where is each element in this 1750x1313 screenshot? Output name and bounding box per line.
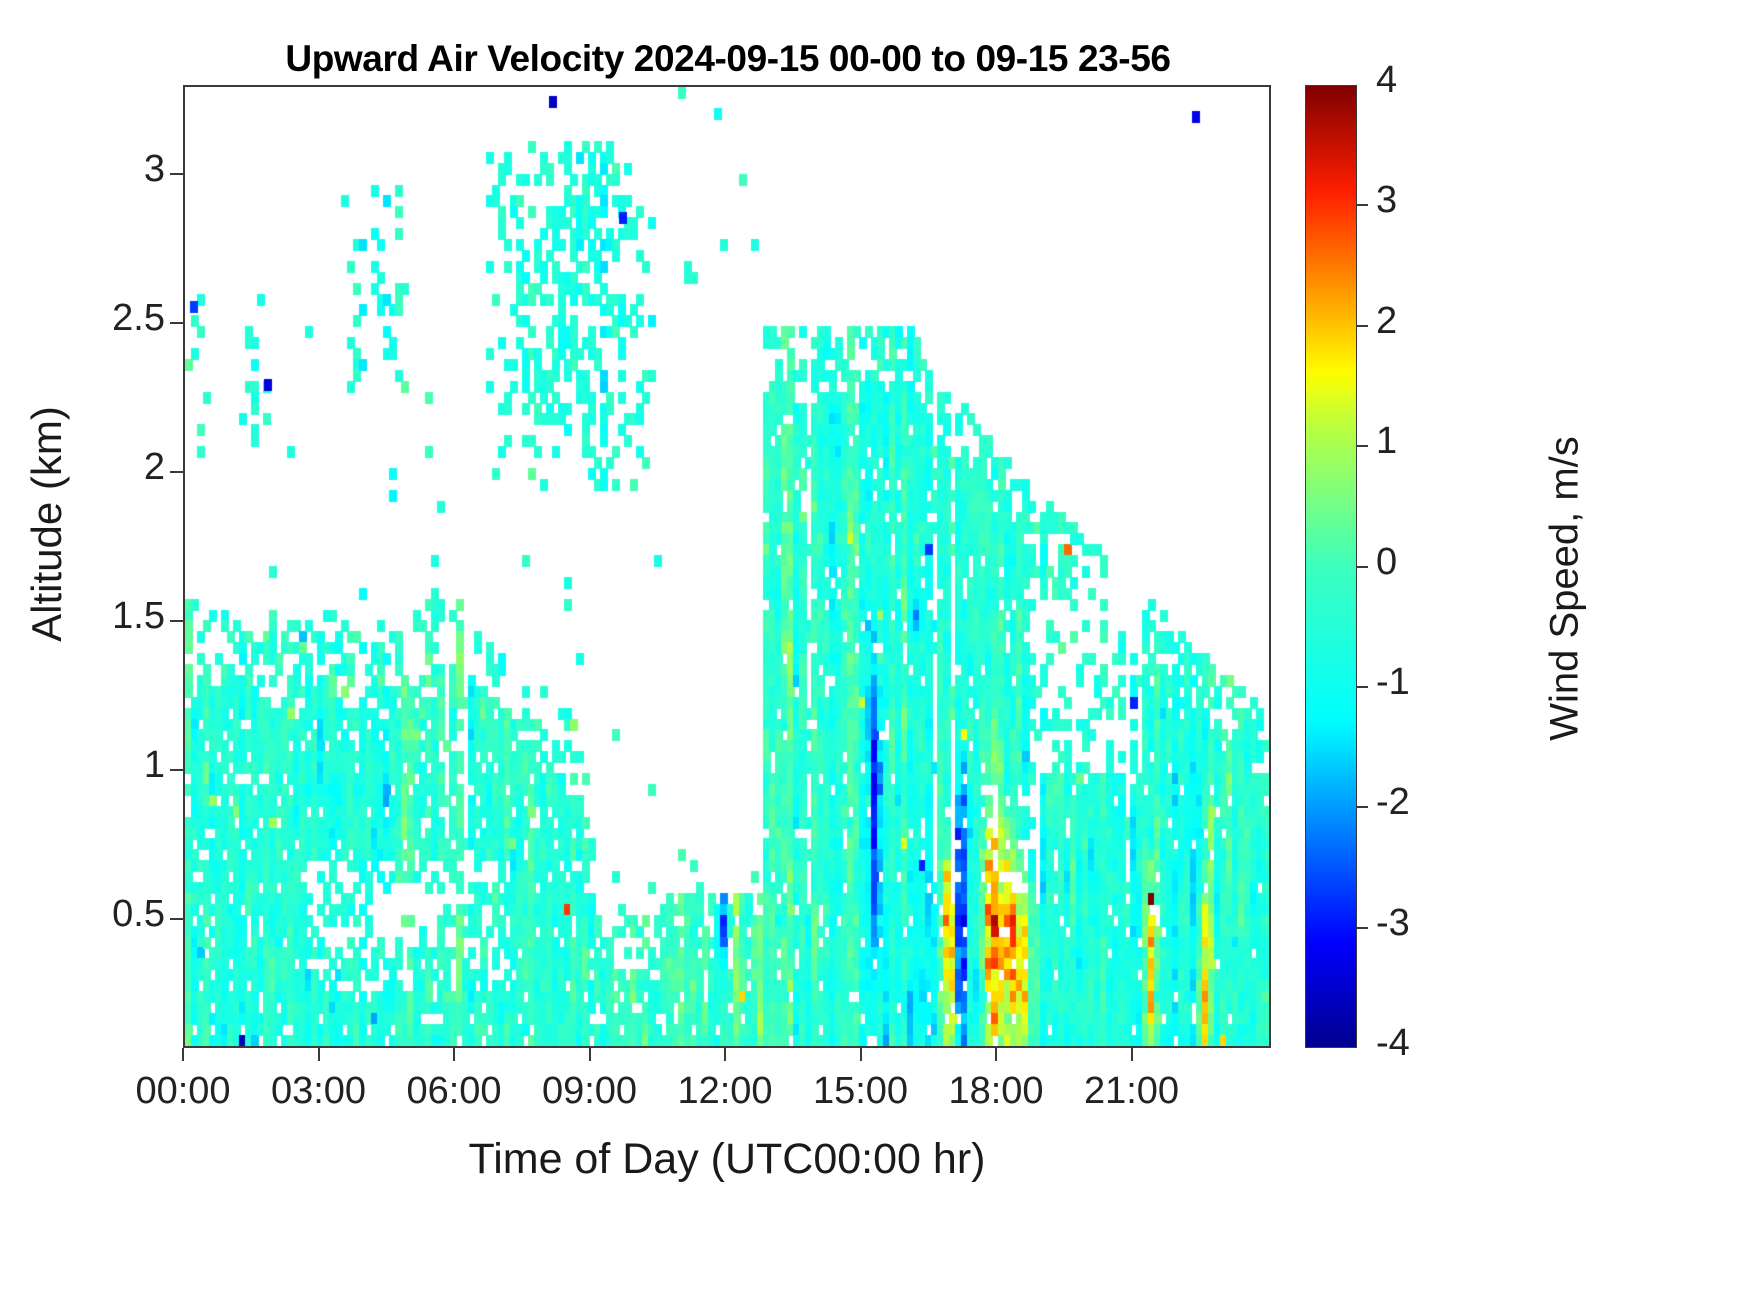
colorbar: [1305, 85, 1357, 1048]
y-tick-mark: [170, 173, 183, 175]
y-tick-label: 2.5: [112, 297, 165, 340]
colorbar-tick-label: 1: [1376, 420, 1397, 463]
x-tick-label: 21:00: [1084, 1070, 1179, 1113]
page-title: Upward Air Velocity 2024-09-15 00-00 to …: [183, 38, 1273, 80]
x-tick-mark: [1131, 1048, 1133, 1061]
colorbar-gradient: [1306, 86, 1356, 1047]
colorbar-tick-mark: [1357, 204, 1368, 206]
plot-axes-frame: [183, 85, 1271, 1048]
x-tick-mark: [318, 1048, 320, 1061]
colorbar-label: Wind Speed, m/s: [1543, 279, 1588, 899]
colorbar-tick-label: -2: [1376, 781, 1410, 824]
x-tick-mark: [860, 1048, 862, 1061]
x-tick-label: 03:00: [271, 1070, 366, 1113]
colorbar-tick-mark: [1357, 445, 1368, 447]
y-axis-label: Altitude (km): [23, 314, 71, 734]
colorbar-tick-label: 0: [1376, 541, 1397, 584]
y-tick-mark: [170, 620, 183, 622]
colorbar-tick-mark: [1357, 686, 1368, 688]
y-tick-label: 0.5: [112, 893, 165, 936]
y-tick-mark: [170, 471, 183, 473]
y-tick-mark: [170, 322, 183, 324]
x-tick-label: 09:00: [542, 1070, 637, 1113]
y-tick-mark: [170, 769, 183, 771]
colorbar-tick-mark: [1357, 325, 1368, 327]
y-tick-label: 2: [144, 446, 165, 489]
figure-canvas: Upward Air Velocity 2024-09-15 00-00 to …: [0, 0, 1750, 1313]
colorbar-tick-mark: [1357, 566, 1368, 568]
x-tick-label: 00:00: [135, 1070, 230, 1113]
x-tick-label: 18:00: [948, 1070, 1043, 1113]
colorbar-tick-mark: [1357, 927, 1368, 929]
x-tick-mark: [453, 1048, 455, 1061]
y-tick-label: 1: [144, 744, 165, 787]
y-tick-mark: [170, 918, 183, 920]
x-tick-mark: [589, 1048, 591, 1061]
x-tick-label: 15:00: [813, 1070, 908, 1113]
x-axis-label: Time of Day (UTC00:00 hr): [183, 1135, 1271, 1184]
heatmap-image: [185, 87, 1269, 1046]
colorbar-tick-label: -3: [1376, 902, 1410, 945]
colorbar-tick-label: -1: [1376, 661, 1410, 704]
x-tick-mark: [182, 1048, 184, 1061]
colorbar-tick-label: 3: [1376, 179, 1397, 222]
colorbar-tick-label: 2: [1376, 300, 1397, 343]
colorbar-tick-label: 4: [1376, 59, 1397, 102]
y-tick-label: 3: [144, 148, 165, 191]
y-tick-label: 1.5: [112, 595, 165, 638]
x-tick-mark: [724, 1048, 726, 1061]
colorbar-tick-mark: [1357, 806, 1368, 808]
x-tick-mark: [995, 1048, 997, 1061]
x-tick-label: 06:00: [406, 1070, 501, 1113]
colorbar-tick-label: -4: [1376, 1022, 1410, 1065]
x-tick-label: 12:00: [677, 1070, 772, 1113]
